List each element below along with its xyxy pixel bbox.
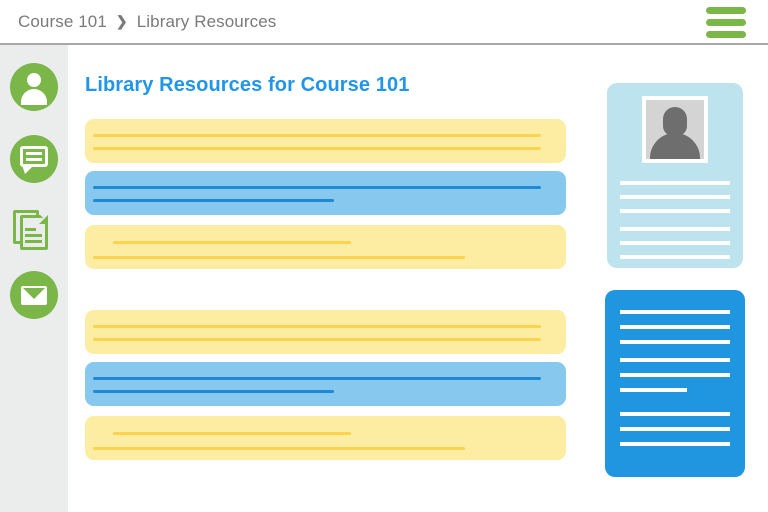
content-line	[93, 147, 541, 150]
breadcrumb-item-course[interactable]: Course 101	[18, 12, 107, 32]
content-line	[93, 447, 465, 450]
chat-line-1	[26, 152, 42, 155]
top-header-bar: Course 101 ❯ Library Resources	[0, 0, 768, 45]
chevron-right-icon: ❯	[116, 13, 128, 30]
sidebar-item-profile[interactable]	[10, 63, 58, 111]
card-text-line	[620, 373, 730, 377]
content-line	[93, 134, 541, 137]
avatar-head-shape	[663, 107, 687, 136]
card-text-line	[620, 388, 687, 392]
page-title: Library Resources for Course 101	[85, 74, 409, 97]
document-text-line-1	[25, 228, 36, 231]
avatar-body-shape	[650, 133, 700, 159]
card-text-line	[620, 241, 730, 245]
hamburger-bar-3	[706, 31, 746, 38]
content-line	[93, 377, 541, 380]
content-line	[93, 390, 334, 393]
profile-preview-card[interactable]	[607, 83, 743, 268]
content-line	[93, 186, 541, 189]
sidebar-item-documents[interactable]	[10, 206, 58, 254]
hamburger-menu-icon[interactable]	[706, 7, 746, 38]
hamburger-bar-2	[706, 19, 746, 26]
content-block-blue[interactable]	[85, 171, 566, 215]
card-text-line	[620, 227, 730, 231]
avatar-placeholder-icon	[646, 100, 704, 159]
card-text-line	[620, 310, 730, 314]
user-head-shape	[27, 73, 41, 87]
card-text-line	[620, 340, 730, 344]
documents-icon	[10, 206, 58, 254]
content-line	[93, 256, 465, 259]
card-text-line	[620, 412, 730, 416]
left-sidebar	[0, 45, 68, 512]
content-block-yellow[interactable]	[85, 416, 566, 460]
sidebar-item-messages[interactable]	[10, 135, 58, 183]
main-content-area: Library Resources for Course 101	[68, 45, 768, 512]
chat-box-shape	[20, 146, 48, 167]
content-line	[93, 325, 541, 328]
envelope-mail-icon	[10, 271, 58, 319]
breadcrumb: Course 101 ❯ Library Resources	[18, 12, 276, 32]
document-folded-corner	[39, 215, 48, 224]
avatar-frame	[642, 96, 708, 163]
document-text-line-3	[25, 240, 42, 243]
content-line	[93, 338, 541, 341]
card-text-line	[620, 325, 730, 329]
card-text-line	[620, 255, 730, 259]
content-block-blue[interactable]	[85, 362, 566, 406]
content-block-yellow[interactable]	[85, 310, 566, 354]
breadcrumb-item-library-resources[interactable]: Library Resources	[137, 12, 277, 32]
content-line	[113, 432, 351, 435]
content-block-yellow[interactable]	[85, 119, 566, 163]
document-text-line-2	[25, 234, 42, 237]
chat-line-2	[26, 158, 42, 161]
app-root: Course 101 ❯ Library Resources	[0, 0, 768, 512]
sidebar-item-mail[interactable]	[10, 271, 58, 319]
card-text-line	[620, 358, 730, 362]
content-line	[93, 199, 334, 202]
envelope-flap-shape	[23, 288, 45, 299]
content-block-yellow[interactable]	[85, 225, 566, 269]
user-body-shape	[21, 89, 47, 105]
document-preview-card[interactable]	[605, 290, 745, 477]
chat-bubble-icon	[10, 135, 58, 183]
content-line	[113, 241, 351, 244]
card-text-line	[620, 195, 730, 199]
card-text-line	[620, 181, 730, 185]
hamburger-bar-1	[706, 7, 746, 14]
card-text-line	[620, 427, 730, 431]
user-profile-icon	[10, 63, 58, 111]
card-text-line	[620, 209, 730, 213]
card-text-line	[620, 442, 730, 446]
